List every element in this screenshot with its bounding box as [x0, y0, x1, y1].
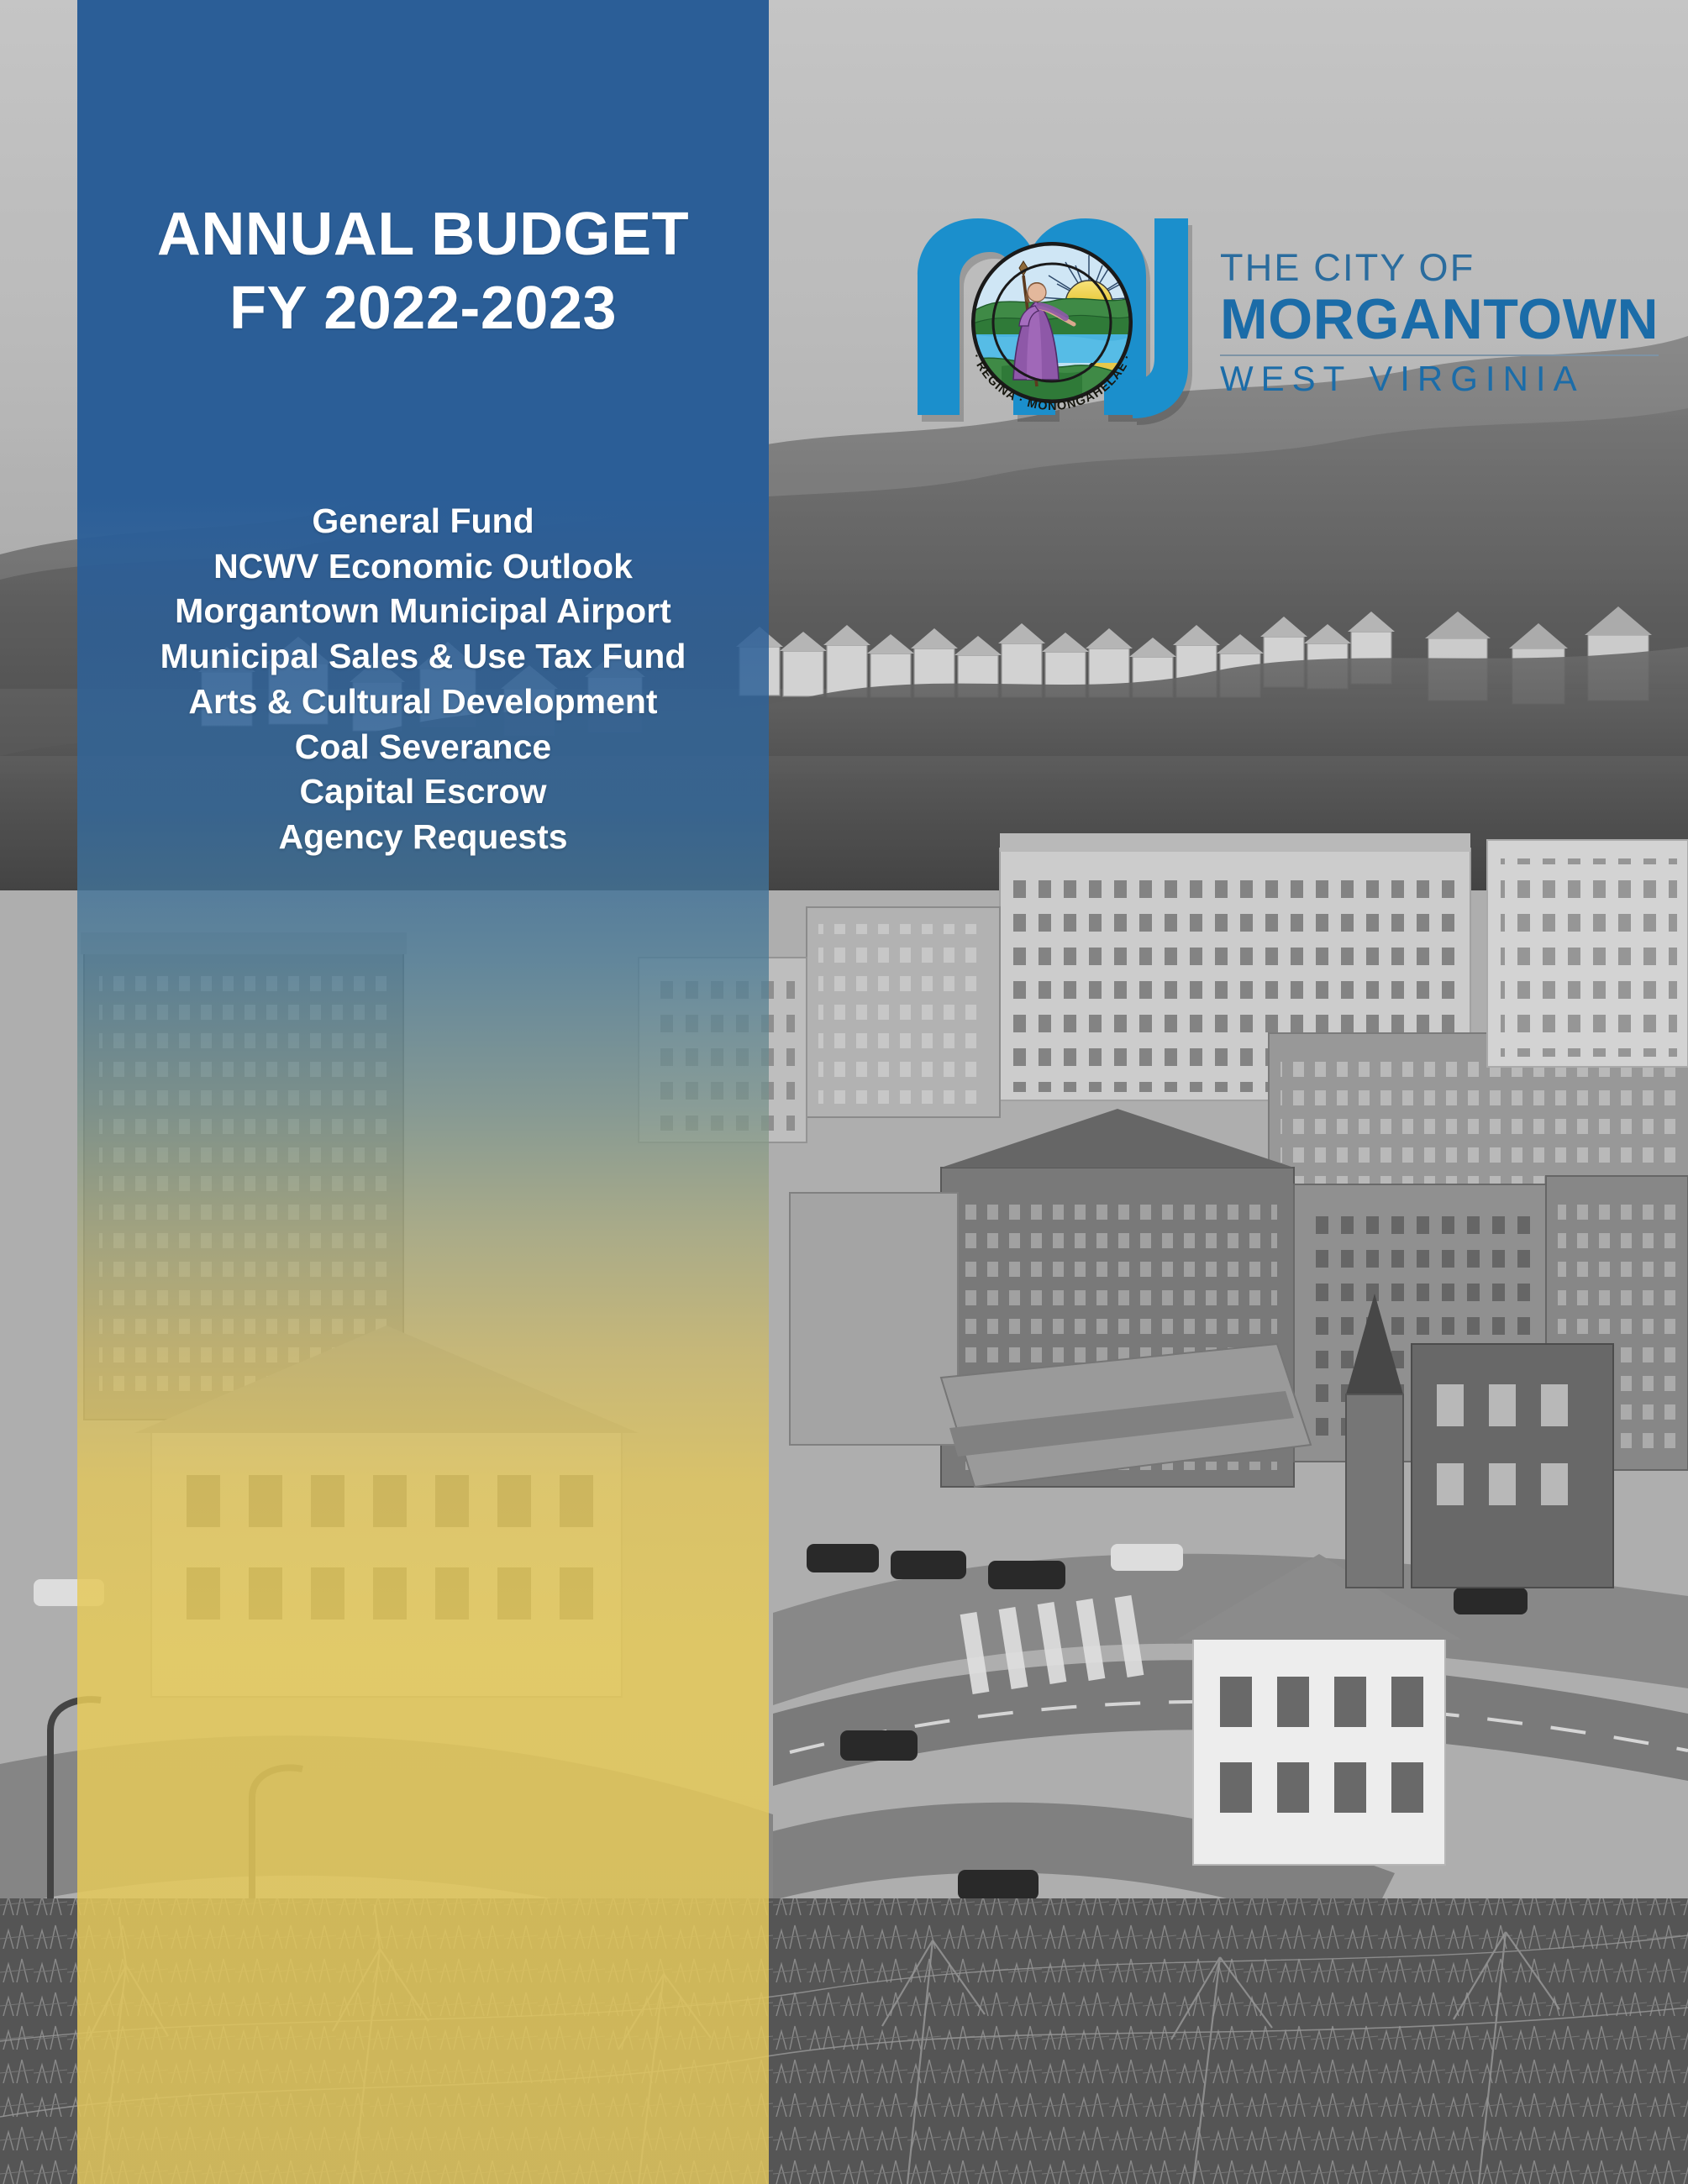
list-item: Arts & Cultural Development [84, 680, 762, 725]
cover-sidebar: ANNUAL BUDGET FY 2022-2023 General Fund … [77, 0, 769, 2184]
list-item: Morgantown Municipal Airport [84, 589, 762, 634]
list-item: Municipal Sales & Use Tax Fund [84, 634, 762, 680]
title-line-1: ANNUAL BUDGET [92, 198, 754, 272]
logo-the-city-of: THE CITY OF [1220, 249, 1659, 286]
logo-divider-rule [1220, 354, 1659, 356]
list-item: Coal Severance [84, 725, 762, 770]
page-title: ANNUAL BUDGET FY 2022-2023 [77, 198, 769, 346]
city-logo-lockup: VESTIGIA NULLA RETRORSUM · REGINA · MONO… [909, 198, 1591, 442]
list-item: Agency Requests [84, 815, 762, 860]
title-line-2: FY 2022-2023 [92, 272, 754, 346]
morgantown-m-monogram-icon: VESTIGIA NULLA RETRORSUM · REGINA · MONO… [909, 198, 1195, 442]
logo-morgantown: MORGANTOWN [1220, 290, 1659, 349]
list-item: Capital Escrow [84, 769, 762, 815]
list-item: NCWV Economic Outlook [84, 544, 762, 590]
fund-section-list: General Fund NCWV Economic Outlook Morga… [77, 499, 769, 860]
list-item: General Fund [84, 499, 762, 544]
city-logo-wordmark: THE CITY OF MORGANTOWN WEST VIRGINIA [1220, 244, 1659, 396]
budget-cover-page: ANNUAL BUDGET FY 2022-2023 General Fund … [0, 0, 1688, 2184]
logo-west-virginia: WEST VIRGINIA [1220, 361, 1659, 396]
svg-text:VESTIGIA NULLA RETRORSUM: VESTIGIA NULLA RETRORSUM [962, 198, 1141, 201]
